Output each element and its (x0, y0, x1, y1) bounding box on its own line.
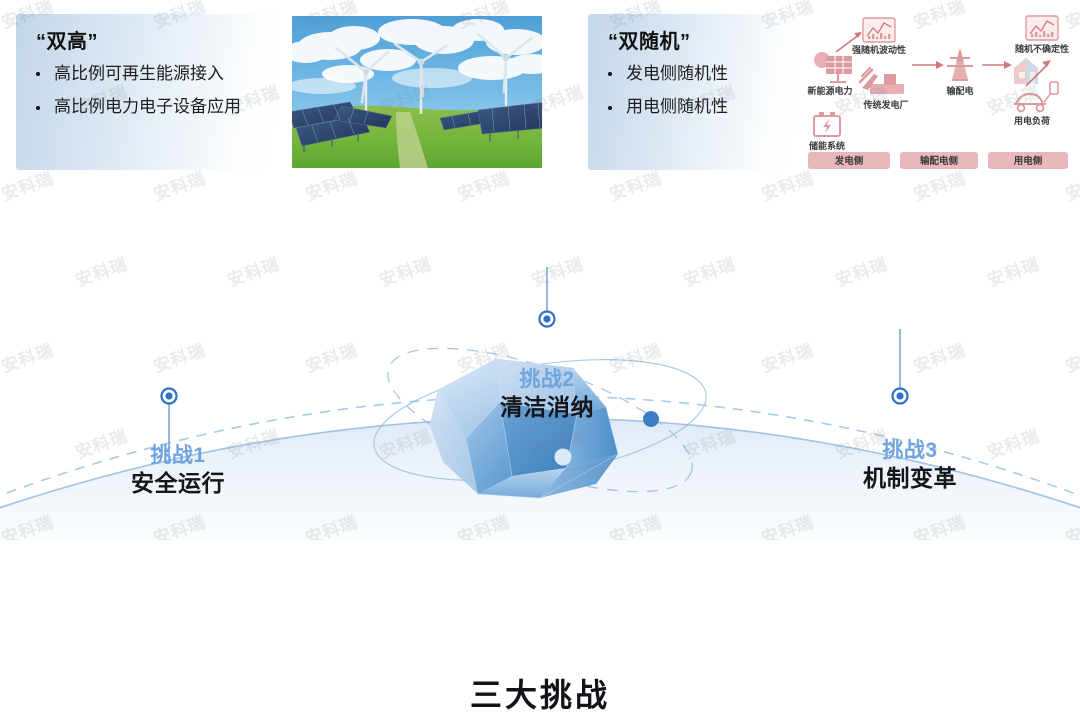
bullet-dot-icon (608, 72, 612, 76)
flow-node-label: 随机不确定性 (1015, 43, 1069, 54)
list-item: 发电侧随机性 (608, 61, 782, 87)
orbit-dot (643, 411, 659, 427)
card-title: “双随机” (608, 30, 782, 54)
stage-label: 输配电侧 (920, 155, 958, 167)
card-title: “双高” (36, 30, 263, 54)
three-challenges-scene: 挑战1 安全运行 挑战2 清洁消纳 挑战3 机制变革 三大挑战 (0, 176, 1080, 540)
list-item: 高比例可再生能源接入 (36, 61, 263, 87)
top-content-row: “双高” 高比例可再生能源接入 高比例电力电子设备应用 (0, 0, 1080, 180)
flow-node-label: 新能源电力 (807, 85, 852, 96)
list-item: 用电侧随机性 (608, 94, 782, 120)
flow-node-label: 传统发电厂 (862, 99, 908, 110)
bullet-list: 发电侧随机性 用电侧随机性 (606, 61, 782, 121)
flow-node-label: 用电负荷 (1013, 115, 1050, 126)
challenge-kicker: 挑战2 (467, 367, 627, 393)
stage-bars: 发电侧 输配电侧 用电侧 (808, 152, 1068, 169)
bullet-list: 高比例可再生能源接入 高比例电力电子设备应用 (34, 61, 263, 121)
stage-label: 发电侧 (834, 155, 864, 167)
challenge-title: 清洁消纳 (467, 393, 627, 423)
list-item-label: 高比例可再生能源接入 (54, 61, 224, 87)
strong-random-fluctuation-icon (863, 18, 895, 42)
bullet-dot-icon (608, 106, 612, 110)
list-item-label: 用电侧随机性 (626, 94, 728, 120)
challenge-kicker: 挑战3 (830, 438, 990, 464)
flow-node-label: 储能系统 (809, 140, 845, 151)
list-item-label: 高比例电力电子设备应用 (54, 94, 241, 120)
random-uncertainty-icon (1026, 16, 1058, 40)
challenge-label-1: 挑战1 安全运行 (98, 443, 258, 499)
flow-node-label: 强随机波动性 (852, 44, 906, 55)
bullet-dot-icon (36, 72, 40, 76)
flow-node-label: 输配电 (946, 85, 973, 96)
challenge-kicker: 挑战1 (98, 443, 258, 469)
renewable-energy-photo (292, 16, 542, 168)
power-system-flow-diagram: 新能源电力 储能系统 强随机波动性 (800, 12, 1076, 172)
challenge-title: 机制变革 (830, 464, 990, 494)
challenge-label-2: 挑战2 清洁消纳 (467, 367, 627, 423)
info-card-shuanggao: “双高” 高比例可再生能源接入 高比例电力电子设备应用 (16, 14, 281, 170)
challenge-title: 安全运行 (98, 469, 258, 499)
challenge-label-3: 挑战3 机制变革 (830, 438, 990, 494)
scene-title: 三大挑战 (0, 670, 1080, 716)
stage-label: 用电侧 (1013, 155, 1043, 167)
orbit-dot (555, 449, 572, 466)
list-item: 高比例电力电子设备应用 (36, 94, 263, 120)
info-card-shuangsuiji: “双随机” 发电侧随机性 用电侧随机性 (588, 14, 800, 170)
list-item-label: 发电侧随机性 (626, 61, 728, 87)
bullet-dot-icon (36, 106, 40, 110)
